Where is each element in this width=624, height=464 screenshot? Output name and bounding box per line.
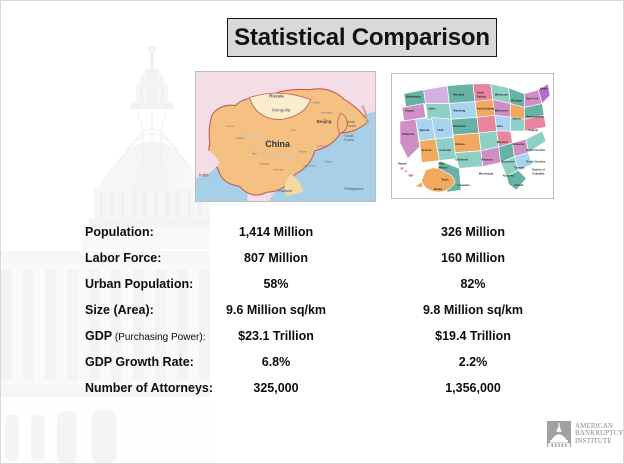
- table-row: Urban Population: 58% 82%: [1, 271, 624, 297]
- svg-text:Beijing: Beijing: [317, 119, 332, 124]
- svg-text:Illinois: Illinois: [513, 116, 522, 120]
- svg-text:Alabama: Alabama: [503, 173, 515, 177]
- svg-text:Wisconsin: Wisconsin: [495, 108, 509, 112]
- svg-text:Korea: Korea: [346, 124, 356, 128]
- row-label: Labor Force:: [85, 245, 161, 273]
- svg-text:Louisiana: Louisiana: [457, 183, 470, 187]
- svg-text:Tennessee: Tennessee: [501, 160, 515, 164]
- svg-text:Columbia: Columbia: [532, 171, 545, 175]
- usa-value: 2.2%: [393, 349, 553, 375]
- china-value: 325,000: [191, 375, 361, 401]
- svg-text:Montana: Montana: [453, 93, 464, 97]
- logo-line-institute: INSTITUTE: [575, 438, 623, 446]
- svg-text:Mexico: Mexico: [438, 165, 447, 169]
- svg-text:China: China: [265, 139, 290, 149]
- svg-text:Hawaii: Hawaii: [398, 162, 407, 166]
- svg-text:Korea: Korea: [344, 138, 354, 142]
- china-value: $23.1 Trillion: [191, 323, 361, 349]
- svg-text:Kentucky: Kentucky: [513, 142, 526, 146]
- svg-text:Mongolia: Mongolia: [272, 107, 291, 112]
- usa-value: 326 Million: [393, 219, 553, 245]
- svg-text:Pennsylvania: Pennsylvania: [526, 114, 544, 118]
- svg-text:Kunming: Kunming: [273, 167, 284, 171]
- slide-canvas: Statistical Comparison: [0, 0, 624, 464]
- svg-text:Florida: Florida: [514, 183, 523, 187]
- china-map-image: China Russia Mongolia Beijing North Kore…: [195, 71, 376, 202]
- svg-text:Idaho: Idaho: [429, 106, 436, 110]
- usa-value: 82%: [393, 271, 553, 297]
- table-row: Number of Attorneys: 325,000 1,356,000: [1, 375, 624, 401]
- svg-text:Maine: Maine: [540, 87, 548, 91]
- svg-text:Mississippi: Mississippi: [479, 171, 494, 175]
- svg-text:Philippines: Philippines: [344, 186, 363, 191]
- svg-text:Guangzhou: Guangzhou: [303, 164, 317, 168]
- table-row: Population: 1,414 Million 326 Million: [1, 219, 624, 245]
- svg-text:Colorado: Colorado: [439, 148, 451, 152]
- svg-text:India: India: [199, 172, 209, 177]
- svg-text:Shenyang: Shenyang: [321, 110, 333, 114]
- svg-text:Oregon: Oregon: [405, 108, 415, 112]
- svg-text:New: New: [438, 162, 444, 166]
- svg-text:Wuhan: Wuhan: [299, 150, 308, 154]
- svg-text:Urumqi: Urumqi: [226, 124, 235, 128]
- svg-text:New York: New York: [526, 97, 538, 101]
- svg-text:Arkansas: Arkansas: [481, 158, 494, 162]
- row-label: Population:: [85, 219, 154, 247]
- china-value: 1,414 Million: [191, 219, 361, 245]
- logo-wordmark: AMERICAN BANKRUPTCY INSTITUTE: [575, 423, 623, 446]
- svg-text:Dakota: Dakota: [477, 95, 486, 99]
- table-row: GDP Growth Rate: 6.8% 2.2%: [1, 349, 624, 375]
- row-label: GDP Growth Rate:: [85, 349, 194, 377]
- svg-text:Georgia: Georgia: [514, 165, 525, 169]
- svg-text:Utah: Utah: [437, 128, 443, 132]
- table-row: Labor Force: 807 Million 160 Million: [1, 245, 624, 271]
- svg-text:California: California: [402, 132, 415, 136]
- svg-text:Thailand: Thailand: [277, 188, 292, 193]
- svg-text:Shanghai: Shanghai: [317, 144, 328, 148]
- china-value: 58%: [191, 271, 361, 297]
- svg-text:Arizona: Arizona: [422, 148, 432, 152]
- svg-text:Michigan: Michigan: [511, 99, 523, 103]
- svg-text:Oklahoma: Oklahoma: [455, 158, 468, 162]
- china-value: 807 Million: [191, 245, 361, 271]
- svg-text:District of: District of: [532, 167, 545, 171]
- svg-text:South Dakota: South Dakota: [477, 106, 495, 110]
- svg-text:North: North: [477, 91, 484, 95]
- svg-text:Kansas: Kansas: [455, 142, 465, 146]
- table-row: GDP (Purchasing Power): $23.1 Trillion $…: [1, 323, 624, 349]
- svg-text:Nevada: Nevada: [420, 128, 430, 132]
- svg-text:South Carolina: South Carolina: [526, 160, 545, 164]
- china-value: 9.6 Million sq/km: [191, 297, 361, 323]
- usa-map-image: Washington Oregon Idaho Montana North Da…: [391, 73, 554, 199]
- row-label: Urban Population:: [85, 271, 193, 299]
- usa-value: 9.8 Million sq/km: [393, 297, 553, 323]
- capitol-dome-icon: [547, 421, 571, 447]
- statistics-table: Population: 1,414 Million 326 Million La…: [1, 219, 624, 401]
- svg-text:Minnesota: Minnesota: [495, 93, 509, 97]
- svg-text:Tibet: Tibet: [251, 152, 257, 156]
- svg-text:Xi'an: Xi'an: [291, 128, 297, 132]
- row-label: Size (Area):: [85, 297, 154, 325]
- svg-text:Missouri: Missouri: [497, 140, 508, 144]
- svg-text:Russia: Russia: [269, 94, 284, 99]
- svg-text:Alaska: Alaska: [433, 187, 442, 191]
- svg-text:Iowa: Iowa: [497, 124, 503, 128]
- usa-value: $19.4 Trillion: [393, 323, 553, 349]
- svg-text:Taiwan: Taiwan: [325, 160, 334, 164]
- slide-title-box: Statistical Comparison: [227, 18, 497, 57]
- svg-text:Wyoming: Wyoming: [453, 108, 465, 112]
- table-row: Size (Area): 9.6 Million sq/km 9.8 Milli…: [1, 297, 624, 323]
- svg-text:Texas: Texas: [441, 177, 449, 181]
- svg-text:Washington: Washington: [406, 95, 422, 99]
- usa-value: 160 Million: [393, 245, 553, 271]
- svg-text:Harbin: Harbin: [313, 101, 321, 105]
- page-title: Statistical Comparison: [234, 24, 490, 52]
- svg-text:North Carolina: North Carolina: [526, 148, 545, 152]
- svg-text:Xinjiang: Xinjiang: [236, 136, 246, 140]
- svg-text:Virginia: Virginia: [528, 128, 538, 132]
- usa-value: 1,356,000: [393, 375, 553, 401]
- american-bankruptcy-institute-logo: AMERICAN BANKRUPTCY INSTITUTE: [547, 419, 615, 449]
- svg-text:Nebraska: Nebraska: [453, 124, 466, 128]
- svg-text:Chengdu: Chengdu: [259, 162, 270, 166]
- china-value: 6.8%: [191, 349, 361, 375]
- row-label: GDP (Purchasing Power):: [85, 323, 205, 351]
